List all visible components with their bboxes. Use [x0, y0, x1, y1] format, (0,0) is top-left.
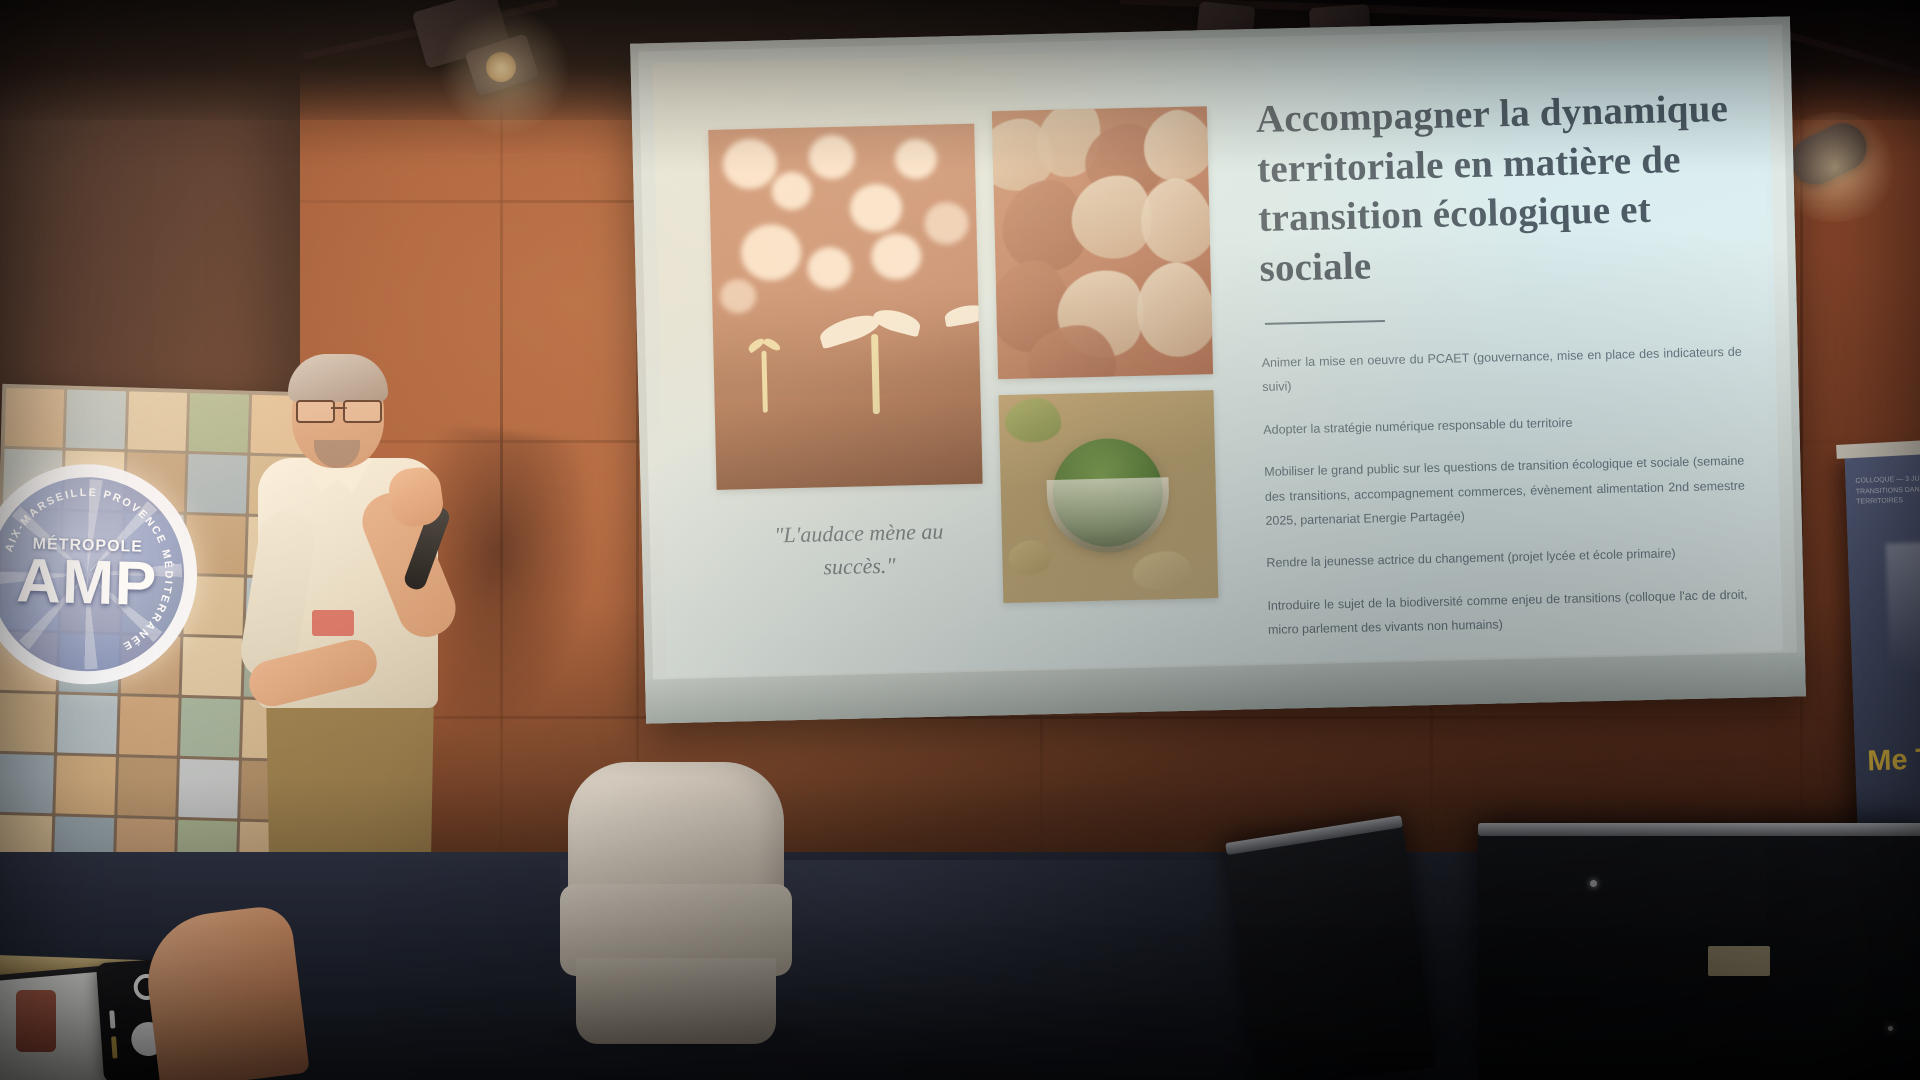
metropole-amp-logo: AIX-MARSEILLE PROVENCE MÉDITERRANÉE MÉTR… [0, 461, 200, 687]
monitor-sticker [1708, 946, 1770, 976]
speaker-hair [288, 354, 388, 402]
logo-amp-label: AMP [16, 553, 158, 613]
slide-quote: "L'audace mène au succès." [743, 514, 974, 585]
slide-bullet: Rendre la jeunesse actrice du changement… [1266, 540, 1747, 576]
armchair-base [576, 958, 776, 1044]
banner-small-text: COLLOQUE — 3 JUIN 2025 — LES TRANSITIONS… [1855, 473, 1920, 509]
banner-light-beam [1886, 541, 1920, 734]
monitor-led-indicator [1590, 880, 1597, 887]
dried-leaves-photo [992, 106, 1213, 379]
banner-heading: Me Te M [1867, 743, 1920, 777]
slide-bullet: Mobiliser le grand public sur les questi… [1264, 449, 1746, 533]
slide-bullet: Animer la mise en oeuvre du PCAET (gouve… [1261, 340, 1742, 400]
slide-text-column: Accompagner la dynamique territoriale en… [1233, 78, 1748, 634]
monitor-led-indicator-2 [1888, 1026, 1893, 1031]
speaker-glasses [296, 400, 382, 420]
slide-bullet: Introduire le sujet de la biodiversité c… [1267, 582, 1748, 642]
slide-image-column: "L'audace mène au succès." [690, 90, 1247, 647]
seedling-photo [708, 124, 982, 490]
conference-photo-scene: "L'audace mène au succès." Accompagner l… [0, 0, 1920, 1080]
presentation-slide: "L'audace mène au succès." Accompagner l… [653, 37, 1783, 677]
stage-light-1-glow [440, 6, 570, 136]
slide-divider-rule [1265, 320, 1385, 325]
glass-globe-photo [999, 390, 1219, 603]
slide-bullet: Adopter la stratégie numérique responsab… [1263, 406, 1744, 442]
monitor-right-top-edge [1478, 823, 1920, 836]
speaker-lanyard-badge [312, 610, 354, 636]
confidence-monitor-left [1226, 821, 1437, 1080]
laptop-content-block [16, 990, 56, 1052]
projection-screen: "L'audace mène au succès." Accompagner l… [630, 16, 1806, 723]
armchair [560, 762, 792, 1052]
slide-title: Accompagner la dynamique territoriale en… [1255, 84, 1740, 293]
slide-bullet-list: Animer la mise en oeuvre du PCAET (gouve… [1261, 340, 1748, 643]
confidence-monitor-right [1478, 828, 1920, 1080]
